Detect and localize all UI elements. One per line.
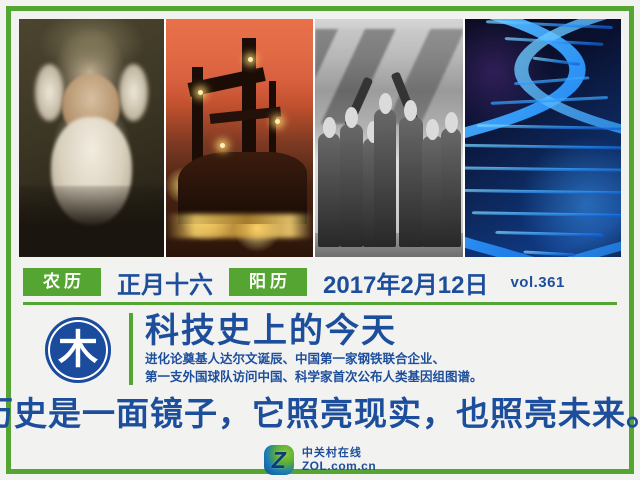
date-bar: 农历 正月十六 阳历 2017年2月12日 vol.361 [23, 267, 617, 297]
headline-block: 木 科技史上的今天 进化论奠基人达尔文诞辰、中国第一家钢铁联合企业、 第一支外国… [23, 313, 617, 385]
wood-emblem-icon: 木 [45, 317, 111, 383]
quote-text: 历史是一面镜子，它照亮现实，也照亮未来。 [0, 395, 640, 433]
photo-foreign-team-great-wall [315, 19, 463, 257]
horizontal-divider [23, 302, 617, 305]
zol-name-en: ZOL.com.cn [302, 460, 376, 473]
solar-date-text: 2017年2月12日 [323, 265, 488, 300]
lunar-calendar-badge: 农历 [23, 268, 101, 296]
headline-texts: 科技史上的今天 进化论奠基人达尔文诞辰、中国第一家钢铁联合企业、 第一支外国球队… [145, 313, 617, 385]
steel-lamp [220, 143, 225, 148]
team-member [318, 133, 340, 247]
steel-lamp [275, 119, 280, 124]
team-member [374, 109, 396, 247]
solar-calendar-badge: 阳历 [229, 268, 307, 296]
zol-logo: Z 中关村在线 ZOL.com.cn [264, 445, 376, 475]
team-member [340, 124, 362, 248]
team-member [399, 117, 423, 248]
darwin-hair-right [119, 64, 148, 121]
team-member-head [379, 93, 392, 114]
headline-title: 科技史上的今天 [145, 313, 617, 349]
team-member-head [323, 117, 336, 138]
lunar-date-text: 正月十六 [117, 265, 213, 300]
headline-subtitle-line-2: 第一支外国球队访问中国、科学家首次公布人类基因组图谱。 [145, 370, 617, 385]
zol-logo-mark-icon: Z [264, 445, 294, 475]
green-vertical-rule [129, 313, 133, 385]
photo-strip [19, 19, 621, 257]
volume-number: vol.361 [510, 274, 564, 291]
darwin-coat [19, 186, 164, 257]
quote-section: 历史是一面镜子，它照亮现实，也照亮未来。 Z 中关村在线 ZOL.com.cn [11, 395, 629, 475]
zol-logo-text: 中关村在线 ZOL.com.cn [302, 447, 376, 473]
team-member [441, 128, 462, 247]
steel-light-band [166, 214, 314, 238]
photo-steel-mill [166, 19, 314, 257]
emblem-glyph: 木 [45, 317, 111, 383]
photo-darwin-portrait [19, 19, 164, 257]
poster-root: 农历 正月十六 阳历 2017年2月12日 vol.361 木 科技史上的今天 … [0, 0, 640, 480]
photo-dna-helix [465, 19, 621, 257]
zol-logo-letter: Z [264, 445, 294, 475]
darwin-hair-left [35, 64, 64, 121]
dna-strand-graphic [465, 19, 621, 257]
green-frame: 农历 正月十六 阳历 2017年2月12日 vol.361 木 科技史上的今天 … [6, 6, 634, 474]
steel-plant-body [178, 152, 308, 223]
headline-subtitle-line-1: 进化论奠基人达尔文诞辰、中国第一家钢铁联合企业、 [145, 352, 617, 367]
